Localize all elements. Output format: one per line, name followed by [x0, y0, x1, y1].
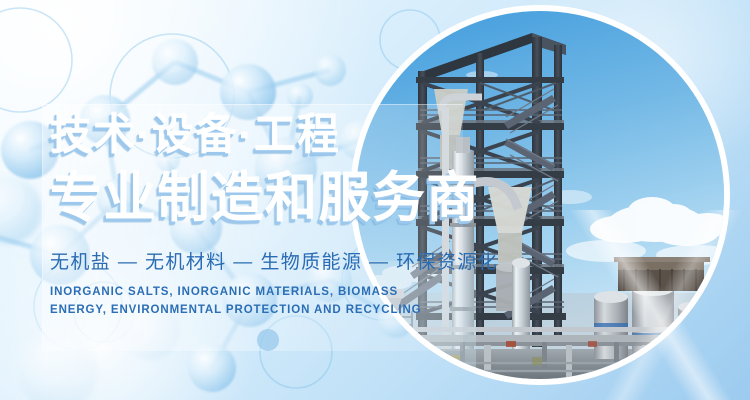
- headline-line-2: 专业制造和服务商: [50, 171, 453, 225]
- promotional-banner: 技术·设备·工程 专业制造和服务商 无机盐 — 无机材料 — 生物质能源 — 环…: [0, 0, 750, 400]
- banner-copy: 技术·设备·工程 专业制造和服务商 无机盐 — 无机材料 — 生物质能源 — 环…: [50, 104, 470, 320]
- subtitle-english: INORGANIC SALTS, INORGANIC MATERIALS, BI…: [50, 284, 446, 320]
- subtitle-chinese: 无机盐 — 无机材料 — 生物质能源 — 环保资源化: [50, 247, 470, 274]
- headline-line-1: 技术·设备·工程: [50, 114, 453, 157]
